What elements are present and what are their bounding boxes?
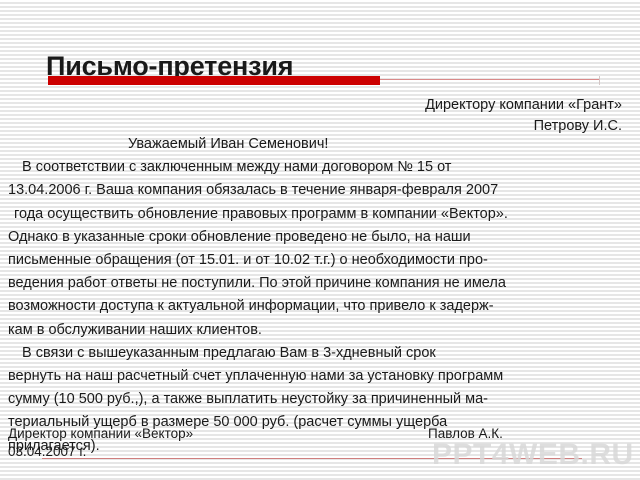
- letter-body: Уважаемый Иван Семенович! В соответствии…: [8, 133, 632, 458]
- letter-line: В соответствии с заключенным между нами …: [8, 156, 632, 179]
- signer-position: Директор компании «Вектор»: [8, 426, 193, 441]
- signature-date: 03.04.2007 г.: [8, 444, 86, 459]
- letter-greeting: Уважаемый Иван Семенович!: [8, 133, 632, 156]
- addressee-company: Директору компании «Грант»: [425, 95, 622, 116]
- watermark-text: PPT4WEB.RU: [432, 438, 634, 472]
- title-underline-decoration: [48, 76, 600, 85]
- letter-line: письменные обращения (от 15.01. и от 10.…: [8, 249, 632, 272]
- letter-line: В связи с вышеуказанным предлагаю Вам в …: [8, 342, 632, 365]
- letter-line: года осуществить обновление правовых про…: [8, 203, 632, 226]
- letter-line: 13.04.2006 г. Ваша компания обязалась в …: [8, 179, 632, 202]
- letter-line: вернуть на наш расчетный счет уплаченную…: [8, 365, 632, 388]
- slide-canvas: Письмо-претензия Директору компании «Гра…: [0, 0, 640, 480]
- letter-line: возможности доступа к актуальной информа…: [8, 295, 632, 318]
- letter-line: сумму (10 500 руб.,), а также выплатить …: [8, 388, 632, 411]
- letter-line: кам в обслуживании наших клиентов.: [8, 319, 632, 342]
- accent-line-thin: [380, 79, 600, 80]
- letter-line: Однако в указанные сроки обновление пров…: [8, 226, 632, 249]
- letter-line: ведения работ ответы не поступили. По эт…: [8, 272, 632, 295]
- accent-bar-thick: [48, 76, 380, 85]
- accent-end-tick: [599, 76, 600, 85]
- addressee-block: Директору компании «Грант» Петрову И.С.: [425, 95, 622, 137]
